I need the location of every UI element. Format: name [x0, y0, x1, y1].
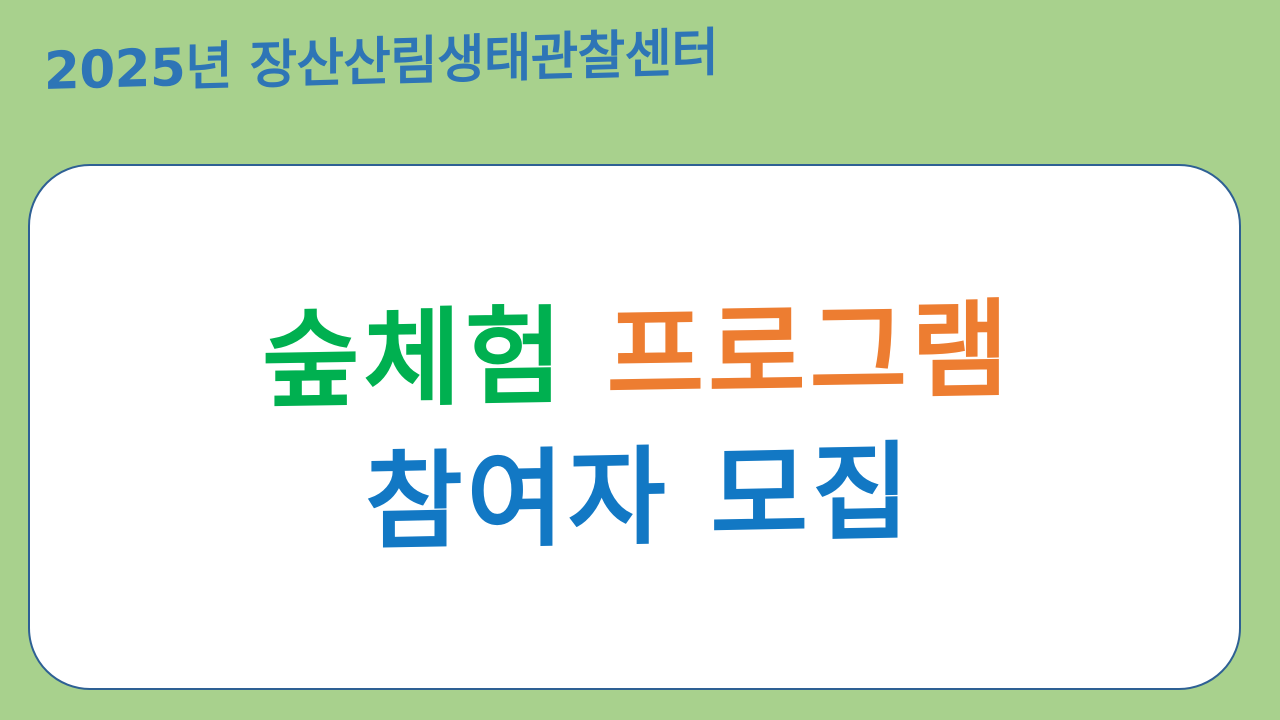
main-title-line-1: 숲체험프로그램 [262, 281, 1013, 431]
title-segment-program: 프로그램 [607, 288, 1013, 417]
organization-header-text: 2025년 장산산림생태관찰센터 [44, 27, 718, 98]
title-card: 숲체험프로그램 참여자 모집 [28, 164, 1241, 690]
title-card-content: 숲체험프로그램 참여자 모집 [30, 166, 1239, 688]
title-word-gap [567, 393, 607, 394]
main-title: 숲체험프로그램 참여자 모집 [256, 287, 1013, 567]
header-band: 2025년 장산산림생태관찰센터 [0, 0, 1280, 150]
title-segment-forest-experience: 숲체험 [262, 295, 567, 423]
title-segment-participant-recruitment: 참여자 모집 [365, 431, 914, 565]
main-title-line-2: 참여자 모집 [266, 422, 1013, 574]
poster-canvas: 2025년 장산산림생태관찰센터 숲체험프로그램 참여자 모집 [0, 0, 1280, 720]
